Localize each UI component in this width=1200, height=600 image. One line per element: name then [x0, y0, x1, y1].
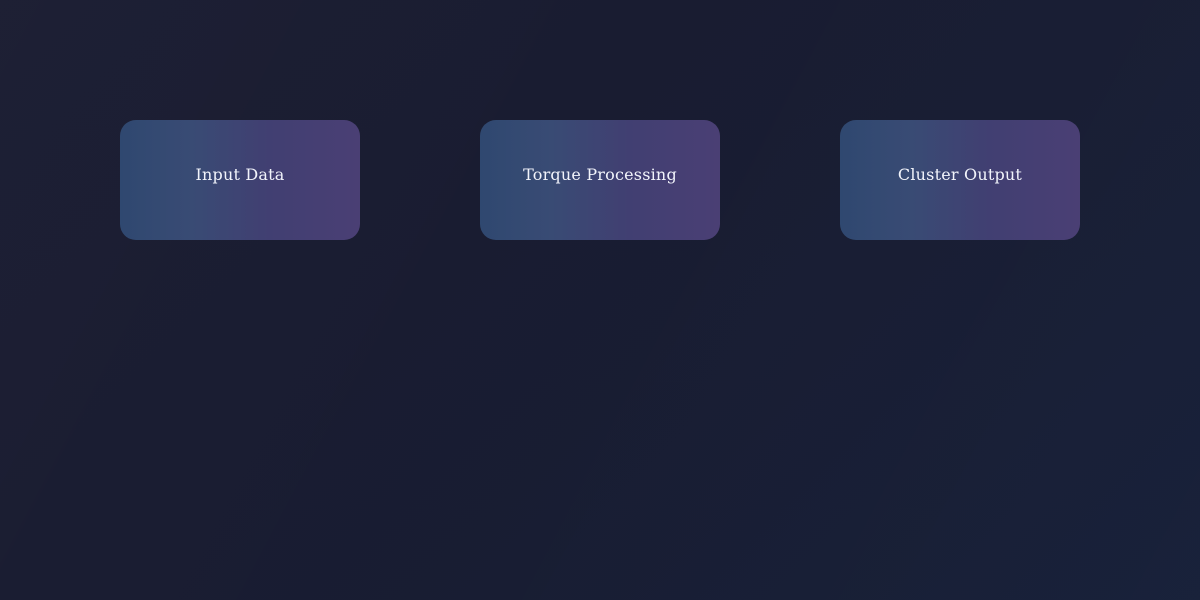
flow-node-label: Torque Processing — [480, 167, 720, 183]
flow-node-cluster-output[interactable]: Cluster Output — [840, 120, 1080, 240]
flow-node-label: Cluster Output — [840, 167, 1080, 183]
pipeline-flow-row: Input Data Torque Processing Cluster Out… — [120, 120, 1080, 240]
diagram-canvas: Input Data Torque Processing Cluster Out… — [0, 0, 1200, 600]
flow-node-label: Input Data — [120, 167, 360, 183]
flow-node-input-data[interactable]: Input Data — [120, 120, 360, 240]
flow-node-torque-processing[interactable]: Torque Processing — [480, 120, 720, 240]
